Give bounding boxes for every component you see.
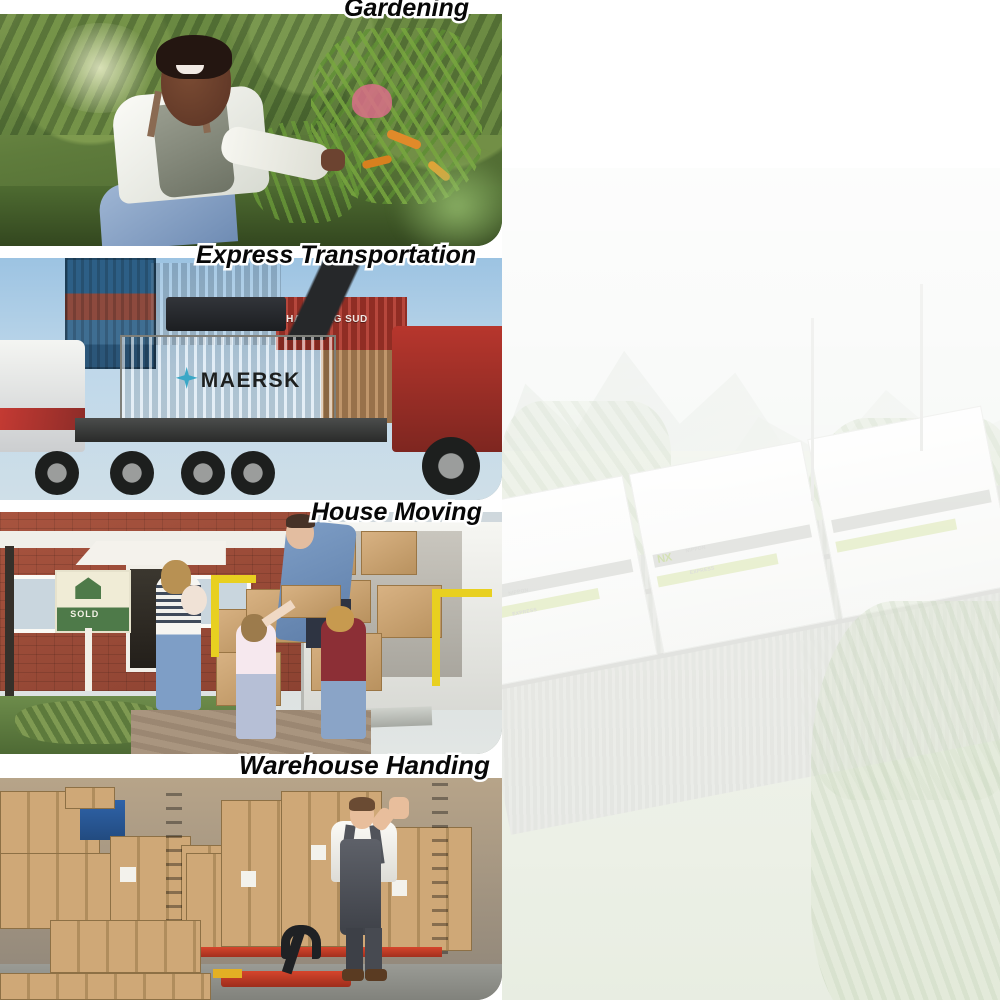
use-case-photo-gardening xyxy=(0,14,502,246)
spreader-grapple xyxy=(166,297,286,331)
truck-cab xyxy=(0,340,85,451)
use-case-photo-warehouse-handing xyxy=(0,778,502,1000)
product-marketing-image: HAMBURG SUD MAERSK xyxy=(0,0,1000,1000)
use-case-photo-house-moving: SOLD xyxy=(0,512,502,754)
use-case-photo-column: HAMBURG SUD MAERSK xyxy=(0,0,502,1000)
baby-figure xyxy=(181,585,207,615)
warehouse-scene xyxy=(0,778,502,1000)
gardening-scene xyxy=(0,14,502,246)
boy-figure xyxy=(321,618,366,739)
maersk-label: MAERSK xyxy=(201,369,301,393)
sold-sign-text: SOLD xyxy=(70,609,99,619)
house-moving-scene: SOLD xyxy=(0,512,502,754)
background-railway-photo: NX NIPPON EXPRESS NX NIPPON EXPRESS xyxy=(502,168,1000,1000)
product-panel: NX NIPPON EXPRESS NX NIPPON EXPRESS Make… xyxy=(502,0,1000,1000)
warehouse-worker xyxy=(331,800,396,978)
use-case-photo-express-transportation: HAMBURG SUD MAERSK xyxy=(0,258,502,500)
container-terminal-scene: HAMBURG SUD MAERSK xyxy=(0,258,502,500)
reach-stacker xyxy=(392,326,502,452)
sold-sign xyxy=(55,570,130,633)
